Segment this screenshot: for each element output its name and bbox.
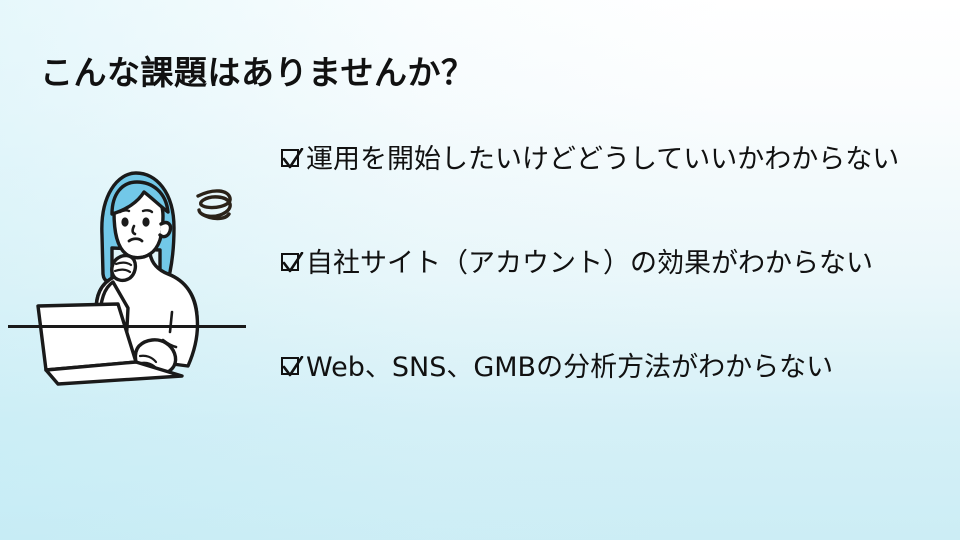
desk-line — [8, 325, 246, 328]
right-eye — [142, 217, 149, 226]
slide-canvas: こんな課題はありませんか？ — [0, 0, 960, 540]
frustration-scribble-icon — [198, 191, 230, 219]
list-item-label: 運用を開始したいけどどうしていいかわからない — [306, 144, 899, 175]
ear-shape — [160, 223, 171, 237]
checked-checkbox-icon — [281, 149, 303, 171]
illustration-woman-thinking-at-laptop — [0, 140, 270, 390]
list-item: 運用を開始したいけどどうしていいかわからない — [281, 144, 941, 175]
checklist: 運用を開始したいけどどうしていいかわからない 自社サイト（アカウント）の効果がわ… — [281, 144, 941, 383]
left-eye — [121, 217, 128, 226]
laptop-screen — [38, 304, 136, 370]
list-item: Web、SNS、GMBの分析方法がわからない — [281, 352, 941, 383]
checked-checkbox-icon — [281, 357, 303, 379]
chin-hand — [112, 256, 136, 281]
list-item: 自社サイト（アカウント）の効果がわからない — [281, 248, 941, 279]
page-title: こんな課題はありませんか？ — [40, 46, 475, 94]
list-item-label: 自社サイト（アカウント）の効果がわからない — [306, 248, 873, 279]
list-item-label: Web、SNS、GMBの分析方法がわからない — [306, 352, 833, 383]
checked-checkbox-icon — [281, 253, 303, 275]
